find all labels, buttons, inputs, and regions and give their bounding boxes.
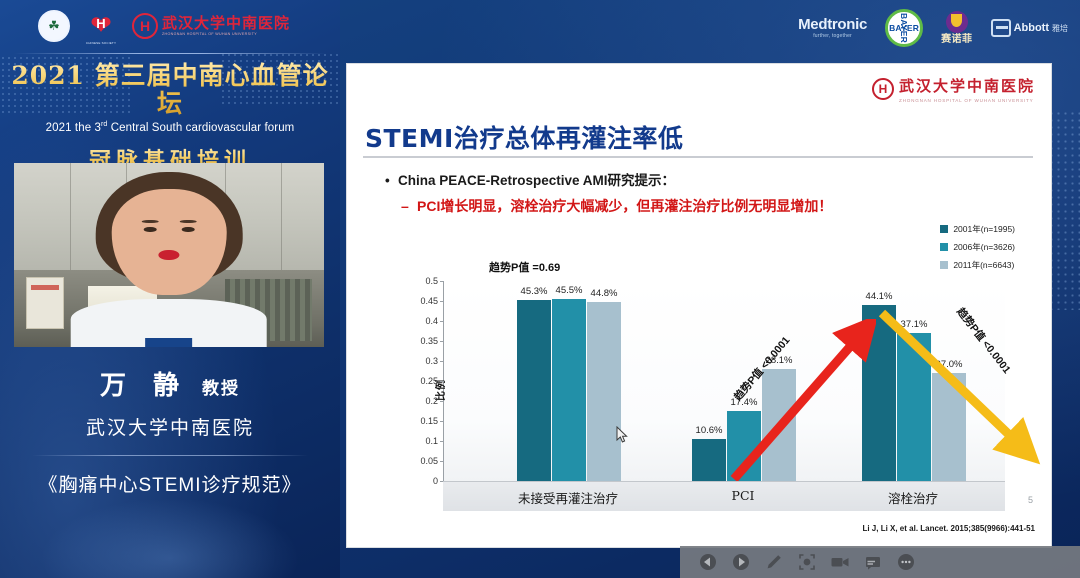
bar: 45.3% <box>517 300 551 481</box>
slide-number: 5 <box>1028 495 1033 505</box>
bar-value-label: 27.0% <box>936 359 963 370</box>
speaker-lips <box>159 250 180 261</box>
clover-emblem-logo: ☘ <box>38 10 70 42</box>
x-axis: 未接受再灌注治疗PCI溶栓治疗 <box>443 481 1005 511</box>
abbott-mark-icon <box>991 19 1011 37</box>
legend-item: 2006年(n=3626) <box>940 241 1015 253</box>
decorative-glow <box>40 498 300 578</box>
speaker-divider <box>32 455 308 456</box>
presentation-toolbar[interactable] <box>680 546 1080 578</box>
ellipsis-icon <box>897 553 915 571</box>
speaker-name: 万 静 <box>100 365 188 402</box>
speaker-info-block: 万 静 教授 武汉大学中南医院 《胸痛中心STEMI诊疗规范》 <box>0 365 340 497</box>
video-camera-icon <box>830 553 850 571</box>
zhongnan-h-badge-icon: H <box>132 13 158 39</box>
legend-label-2001: 2001年(n=1995) <box>953 223 1015 235</box>
y-axis-tick: 0.5 <box>390 276 444 286</box>
annotate-button[interactable] <box>764 552 784 572</box>
y-axis-tick: 0.4 <box>390 316 444 326</box>
y-axis-tick: 0.1 <box>390 436 444 446</box>
y-axis-tick: 0.25 <box>390 376 444 386</box>
capture-icon <box>798 553 816 571</box>
bayer-wordmark-vertical: BAYER <box>899 13 909 43</box>
abbott-logo: Abbott 雅培 <box>991 19 1068 37</box>
header-divider <box>14 53 326 54</box>
y-axis-tick: 0.2 <box>390 396 444 406</box>
slide-hospital-logo: H 武汉大学中南医院 ZHONGNAN HOSPITAL OF WUHAN UN… <box>872 75 1035 103</box>
speaker-rank: 教授 <box>202 374 240 399</box>
speaker-eyebrow-left <box>141 220 158 224</box>
y-axis-tick: 0.15 <box>390 416 444 426</box>
event-title-block: 2021 第三届中南心血管论坛 2021 the 3rd Central Sou… <box>0 62 340 175</box>
bayer-logo: BAYER BAYER <box>885 9 923 47</box>
y-axis-tick: 0.45 <box>390 296 444 306</box>
mouse-cursor-icon <box>616 426 628 444</box>
slide-title: STEMI治疗总体再灌注率低 <box>365 119 683 155</box>
talk-title: 《胸痛中心STEMI诊疗规范》 <box>0 470 340 497</box>
slide-title-divider <box>363 156 1033 158</box>
previous-slide-button[interactable] <box>698 552 718 572</box>
bar-value-label: 44.1% <box>866 291 893 302</box>
more-options-button[interactable] <box>896 552 916 572</box>
bar-value-label: 45.5% <box>556 285 583 296</box>
abbott-wordmark: Abbott <box>1014 22 1049 34</box>
abbott-wordmark-cn: 雅培 <box>1052 23 1068 34</box>
speaker-video-tile[interactable] <box>14 163 324 347</box>
x-axis-label: PCI <box>732 488 755 503</box>
bar: 44.1% <box>862 305 896 481</box>
bullet-secondary-text: PCI增长明显，溶栓治疗大幅减少，但再灌注治疗比例无明显增加！ <box>417 198 832 214</box>
bullet-dash-marker: – <box>401 196 409 216</box>
sponsor-logo-bar: Medtronic further, together BAYER BAYER … <box>798 8 1068 48</box>
slide-hospital-logo-cn: 武汉大学中南医院 <box>899 75 1035 96</box>
bar: 27.0% <box>932 373 966 481</box>
y-axis-tick: 0 <box>390 476 444 486</box>
bar-chart: 趋势P值 =0.69 比例 00.050.10.150.20.250.30.35… <box>385 259 1015 519</box>
bar: 45.5% <box>552 299 586 481</box>
bar-group: 44.1%37.1%27.0% <box>862 281 966 481</box>
event-title-en-pre: 2021 the 3 <box>46 122 101 134</box>
heart-society-logo: ❤ H CHINESE SOCIETY <box>84 10 118 42</box>
bar: 17.4% <box>727 411 761 481</box>
speaker-figure <box>67 163 272 347</box>
legend-swatch-2006 <box>940 243 948 251</box>
sanofi-logo: 赛诺菲 <box>941 11 973 45</box>
medtronic-logo: Medtronic further, together <box>798 17 867 39</box>
bar: 28.1% <box>762 369 796 481</box>
bullet-primary-text: China PEACE-Retrospective AMI研究提示： <box>398 173 675 188</box>
sanofi-wordmark: 赛诺菲 <box>941 35 973 45</box>
bar-value-label: 45.3% <box>521 286 548 297</box>
record-button[interactable] <box>830 552 850 572</box>
event-side-panel: ☘ ❤ H CHINESE SOCIETY H 武汉大学中南医院 ZHONGNA… <box>0 0 340 578</box>
x-axis-label: 未接受再灌注治疗 <box>518 488 618 507</box>
x-axis-label: 溶栓治疗 <box>888 488 938 507</box>
medtronic-tagline: further, together <box>813 34 852 39</box>
bar-group: 45.3%45.5%44.8% <box>517 281 621 481</box>
pencil-icon <box>765 553 783 571</box>
bar-value-label: 10.6% <box>696 425 723 436</box>
y-axis-tick: 0.35 <box>390 336 444 346</box>
previous-icon <box>699 553 717 571</box>
hospital-h-badge-icon: H <box>872 78 894 100</box>
video-wall-poster <box>26 277 63 329</box>
organizer-logo-strip: ☘ ❤ H CHINESE SOCIETY H 武汉大学中南医院 ZHONGNA… <box>0 0 340 52</box>
event-title-chinese: 2021 第三届中南心血管论坛 <box>0 62 340 118</box>
legend-swatch-2001 <box>940 225 948 233</box>
zhongnan-logo-cn: 武汉大学中南医院 <box>162 16 290 31</box>
slide-hospital-logo-en: ZHONGNAN HOSPITAL OF WUHAN UNIVERSITY <box>899 98 1035 103</box>
speaker-organization: 武汉大学中南医院 <box>0 413 340 440</box>
slide-citation: Li J, Li X, et al. Lancet. 2015;385(9966… <box>862 524 1035 533</box>
bar: 37.1% <box>897 333 931 481</box>
bar: 10.6% <box>692 439 726 481</box>
screenshot-button[interactable] <box>797 552 817 572</box>
slide-bullet-primary: •China PEACE-Retrospective AMI研究提示： <box>385 169 675 189</box>
sanofi-mark-icon <box>946 11 968 33</box>
zhongnan-logo-en: ZHONGNAN HOSPITAL OF WUHAN UNIVERSITY <box>162 33 290 37</box>
speaker-eye-right <box>182 227 195 232</box>
bar-value-label: 44.8% <box>591 288 618 299</box>
next-icon <box>732 553 750 571</box>
medtronic-wordmark: Medtronic <box>798 17 867 32</box>
speaker-white-coat <box>71 299 267 347</box>
heart-logo-letter: H <box>84 16 118 31</box>
speaker-name-line: 万 静 教授 <box>0 365 340 402</box>
event-title-english: 2021 the 3rd Central South cardiovascula… <box>0 121 340 134</box>
next-slide-button[interactable] <box>731 552 751 572</box>
speaker-face <box>112 189 227 296</box>
speaker-eye-left <box>144 227 157 232</box>
chart-plot-area: 比例 00.050.10.150.20.250.30.350.40.450.5 … <box>443 281 1005 481</box>
presentation-area: Medtronic further, together BAYER BAYER … <box>340 0 1080 578</box>
speaker-collar <box>145 338 192 347</box>
chat-icon <box>864 553 882 571</box>
speaker-eyebrow-right <box>179 220 196 224</box>
y-axis-tick: 0.05 <box>390 456 444 466</box>
y-axis-tick: 0.3 <box>390 356 444 366</box>
event-title-en-post: Central South cardiovascular forum <box>107 122 294 134</box>
heart-logo-subtext: CHINESE SOCIETY <box>82 41 120 45</box>
zhongnan-hospital-logo: H 武汉大学中南医院 ZHONGNAN HOSPITAL OF WUHAN UN… <box>132 13 290 39</box>
chat-button[interactable] <box>863 552 883 572</box>
bar: 44.8% <box>587 302 621 481</box>
p-trend-no-reperfusion-annotation: 趋势P值 =0.69 <box>489 259 560 275</box>
slide-bullet-secondary: –PCI增长明显，溶栓治疗大幅减少，但再灌注治疗比例无明显增加！ <box>417 196 887 216</box>
legend-label-2006: 2006年(n=3626) <box>953 241 1015 253</box>
slide-canvas[interactable]: H 武汉大学中南医院 ZHONGNAN HOSPITAL OF WUHAN UN… <box>346 63 1052 548</box>
bullet-marker: • <box>385 173 398 188</box>
bar-value-label: 37.1% <box>901 319 928 330</box>
legend-item: 2001年(n=1995) <box>940 223 1015 235</box>
